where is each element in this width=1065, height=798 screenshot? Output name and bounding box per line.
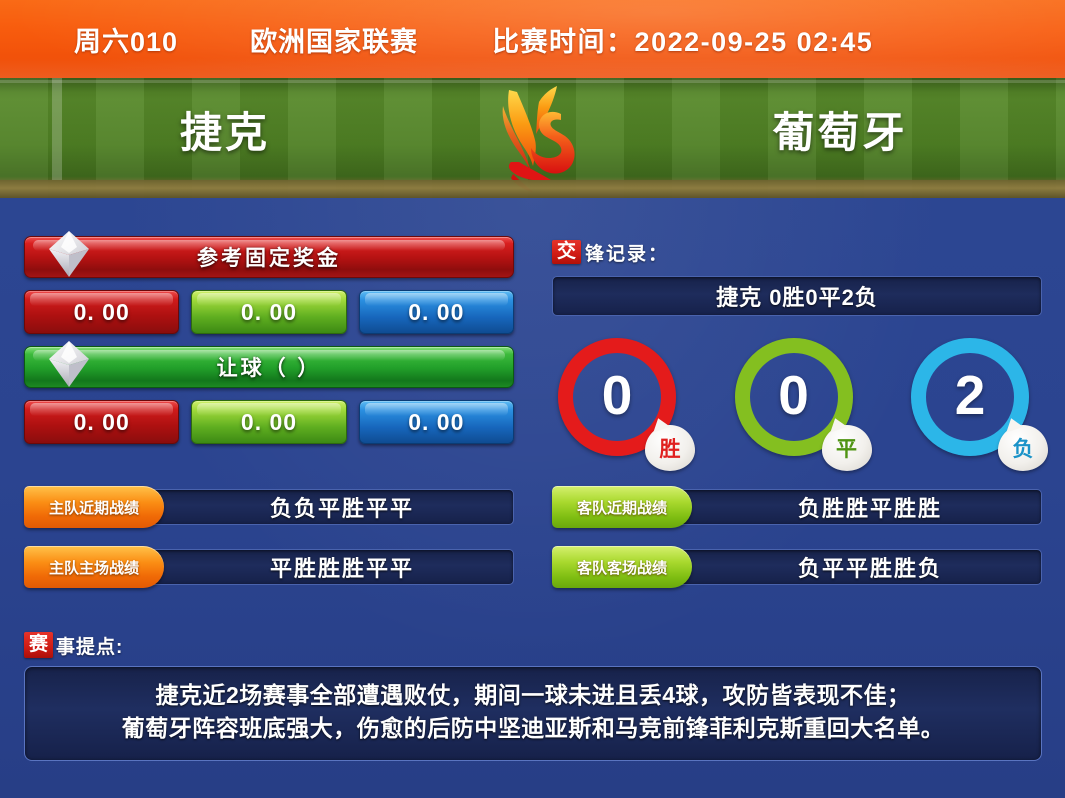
h2h-win-count: 0 — [602, 368, 633, 423]
away-recent-form-value: 负胜胜平胜胜 — [798, 491, 942, 523]
fixed-odd-draw-value: 0. 00 — [241, 299, 297, 326]
match-round-label: 周六010 — [74, 20, 178, 59]
handicap-title-bar: 让球（ ） — [24, 346, 514, 388]
analysis-line-1: 捷克近2场赛事全部遭遇败仗，期间一球未进且丢4球，攻防皆表现不佳； — [43, 679, 1023, 712]
match-time-label: 比赛时间：2022-09-25 02:45 — [492, 20, 873, 59]
handicap-odd-lose-value: 0. 00 — [408, 409, 464, 436]
handicap-odd-draw-value: 0. 00 — [241, 409, 297, 436]
content-board: 参考固定奖金 0. 00 0. 00 0. 00 — [0, 198, 1065, 798]
analysis-section: 赛 事提点: 捷克近2场赛事全部遭遇败仗，期间一球未进且丢4球，攻防皆表现不佳；… — [24, 630, 1042, 761]
away-recent-form-label: 客队近期战绩 — [577, 497, 667, 518]
away-venue-form-bar: 负平平胜胜负 — [662, 549, 1042, 585]
odds-panel: 参考固定奖金 0. 00 0. 00 0. 00 — [24, 236, 514, 456]
diamond-icon — [47, 339, 91, 389]
diamond-icon — [47, 229, 91, 279]
fixed-odd-draw[interactable]: 0. 00 — [191, 290, 346, 334]
home-venue-form-tag: 主队主场战绩 — [24, 546, 164, 588]
away-venue-form-row: 负平平胜胜负 客队客场战绩 — [552, 546, 1042, 588]
page-header: 周六010 欧洲国家联赛 比赛时间：2022-09-25 02:45 — [0, 0, 1065, 78]
ring-badge-draw: 平 — [822, 425, 872, 471]
fixed-odd-win[interactable]: 0. 00 — [24, 290, 179, 334]
home-form-block: 负负平胜平平 主队近期战绩 平胜胜胜平平 主队主场战绩 — [24, 486, 514, 606]
h2h-draw-label: 平 — [836, 433, 857, 463]
home-recent-form-row: 负负平胜平平 主队近期战绩 — [24, 486, 514, 528]
away-venue-form-label: 客队客场战绩 — [577, 557, 667, 578]
away-recent-form-row: 负胜胜平胜胜 客队近期战绩 — [552, 486, 1042, 528]
fixed-odds-title-bar: 参考固定奖金 — [24, 236, 514, 278]
h2h-ring-lose: 2 负 — [911, 338, 1036, 463]
away-form-block: 负胜胜平胜胜 客队近期战绩 负平平胜胜负 客队客场战绩 — [552, 486, 1042, 606]
h2h-heading-chip: 交 — [552, 240, 581, 265]
h2h-summary-text: 捷克 0胜0平2负 — [716, 280, 878, 312]
ring-badge-lose: 负 — [998, 425, 1048, 471]
away-recent-form-tag: 客队近期战绩 — [552, 486, 692, 528]
fixed-odd-lose-value: 0. 00 — [408, 299, 464, 326]
handicap-odd-win[interactable]: 0. 00 — [24, 400, 179, 444]
fixed-odds-title: 参考固定奖金 — [197, 242, 341, 272]
h2h-ring-draw: 0 平 — [735, 338, 860, 463]
handicap-odd-win-value: 0. 00 — [74, 409, 130, 436]
h2h-win-label: 胜 — [660, 433, 681, 463]
home-team-name: 捷克 — [10, 99, 440, 160]
away-recent-form-bar: 负胜胜平胜胜 — [662, 489, 1042, 525]
match-preview-page: 周六010 欧洲国家联赛 比赛时间：2022-09-25 02:45 捷克 葡萄… — [0, 0, 1065, 798]
h2h-rings: 0 胜 0 平 2 — [552, 338, 1042, 463]
home-venue-form-row: 平胜胜胜平平 主队主场战绩 — [24, 546, 514, 588]
home-recent-form-tag: 主队近期战绩 — [24, 486, 164, 528]
head-to-head-panel: 交 锋记录： 捷克 0胜0平2负 0 胜 0 — [552, 236, 1042, 463]
home-venue-form-bar: 平胜胜胜平平 — [134, 549, 514, 585]
home-recent-form-label: 主队近期战绩 — [49, 497, 139, 518]
analysis-box: 捷克近2场赛事全部遭遇败仗，期间一球未进且丢4球，攻防皆表现不佳； 葡萄牙阵容班… — [24, 666, 1042, 761]
h2h-heading: 交 锋记录： — [552, 236, 1042, 268]
h2h-heading-text: 锋记录： — [585, 239, 669, 266]
home-venue-form-label: 主队主场战绩 — [49, 557, 139, 578]
h2h-draw-count: 0 — [778, 368, 809, 423]
fixed-odd-win-value: 0. 00 — [74, 299, 130, 326]
analysis-heading-chip: 赛 — [24, 632, 53, 659]
league-name-label: 欧洲国家联赛 — [250, 20, 418, 59]
away-venue-form-value: 负平平胜胜负 — [798, 551, 942, 583]
handicap-odds-row: 0. 00 0. 00 0. 00 — [24, 400, 514, 444]
fixed-odd-lose[interactable]: 0. 00 — [359, 290, 514, 334]
vs-flame-icon — [473, 84, 593, 196]
analysis-heading: 赛 事提点: — [24, 630, 1042, 660]
ring-badge-win: 胜 — [645, 425, 695, 471]
h2h-lose-label: 负 — [1013, 433, 1034, 463]
h2h-lose-count: 2 — [955, 368, 986, 423]
handicap-odd-lose[interactable]: 0. 00 — [359, 400, 514, 444]
analysis-heading-text: 事提点: — [56, 632, 123, 659]
home-recent-form-value: 负负平胜平平 — [270, 491, 414, 523]
handicap-odd-draw[interactable]: 0. 00 — [191, 400, 346, 444]
home-recent-form-bar: 负负平胜平平 — [134, 489, 514, 525]
fixed-odds-row: 0. 00 0. 00 0. 00 — [24, 290, 514, 334]
away-team-name: 葡萄牙 — [625, 99, 1055, 160]
home-venue-form-value: 平胜胜胜平平 — [270, 551, 414, 583]
handicap-title: 让球（ ） — [217, 352, 322, 382]
h2h-summary-bar: 捷克 0胜0平2负 — [552, 276, 1042, 316]
pitch-banner: 捷克 葡萄牙 — [0, 78, 1065, 198]
analysis-line-2: 葡萄牙阵容班底强大，伤愈的后防中坚迪亚斯和马竞前锋菲利克斯重回大名单。 — [43, 712, 1023, 745]
h2h-ring-win: 0 胜 — [558, 338, 683, 463]
away-venue-form-tag: 客队客场战绩 — [552, 546, 692, 588]
